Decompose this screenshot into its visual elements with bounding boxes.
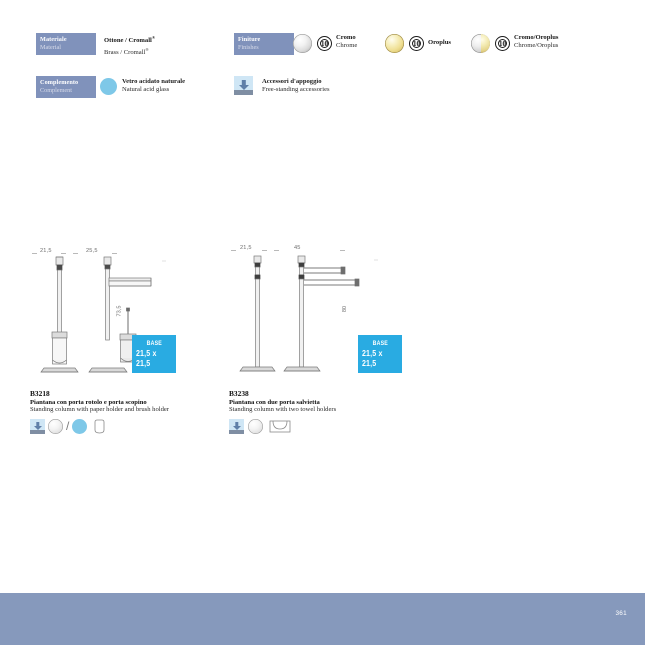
badge-10-duo: 10	[495, 36, 510, 51]
dim-tick	[61, 253, 66, 254]
product-drawing-b3238: 21,5 45	[228, 245, 408, 382]
finish-option-oroplus	[385, 34, 404, 58]
finishes-label-en: Finishes	[238, 44, 294, 52]
legend-complement: Complemento Complement	[36, 76, 96, 98]
dim-tick	[32, 253, 37, 254]
finish-option-chrome	[293, 34, 312, 58]
free-standing-accessory-icon	[234, 76, 253, 95]
free-standing-accessory-icon	[30, 419, 45, 434]
dim-tick	[112, 253, 117, 254]
dim-tick	[274, 250, 279, 251]
material-value-en-text: Brass / Cromall	[104, 49, 145, 56]
free-standing-accessory-icon	[229, 419, 244, 434]
chrome-oroplus-guarantee-badge-icon: 10	[495, 36, 510, 51]
base-chip-title-b3238: BASE	[372, 340, 387, 347]
complement-label-box: Complemento Complement	[36, 76, 96, 98]
finish-oroplus-text: Oroplus	[428, 39, 451, 47]
material-value: Ottone / Cromall® Brass / Cromall®	[104, 34, 155, 57]
product-code-b3238: B3238	[229, 389, 336, 398]
dim-tick	[340, 250, 345, 251]
legend-material: Materiale Material	[36, 33, 96, 55]
footer-band	[0, 593, 645, 645]
finish-option-chrome-oroplus	[471, 34, 490, 58]
dim-height-b3238: 80	[342, 306, 348, 312]
base-chip-title-b3218: BASE	[146, 340, 161, 347]
material-value-en: Brass / Cromall®	[104, 46, 155, 58]
badge-10-oroplus-text: 10	[410, 37, 423, 50]
separator-slash-icon: /	[66, 419, 69, 434]
material-label-it: Materiale	[40, 36, 96, 44]
product-icons-b3238	[229, 419, 291, 434]
product-desc-it-b3238: Piantana con due porta salvietta	[229, 399, 336, 406]
towel-holder-outline-icon	[269, 419, 291, 434]
complement-label-it: Complemento	[40, 79, 96, 87]
base-chip-b3238: BASE 21,5 x 21,5	[358, 335, 402, 373]
product-desc-en-b3238: Standing column with two towel holders	[229, 406, 336, 413]
base-chip-value-b3238: 21,5 x 21,5	[362, 348, 398, 368]
complement-label-en: Complement	[40, 87, 96, 95]
product-desc-it-b3218: Piantana con porta rotolo e porta scopin…	[30, 399, 169, 406]
finish-duo-it: Cromo/Oroplus	[514, 34, 558, 42]
finish-chrome-text: Cromo Chrome	[336, 34, 357, 51]
product-desc-en-b3218: Standing column with paper holder and br…	[30, 406, 169, 413]
accessory-base-bar	[30, 430, 45, 434]
badge-10-oroplus: 10	[409, 36, 424, 51]
chrome-swatch	[293, 34, 312, 53]
product-info-b3218: B3218 Piantana con porta rotolo e porta …	[30, 389, 169, 413]
product-code-b3218: B3218	[30, 389, 169, 398]
badge-10-chrome-text: 10	[318, 37, 331, 50]
legend-finishes: Finiture Finishes	[234, 33, 294, 55]
finish-chrome-oroplus-text: Cromo/Oroplus Chrome/Oroplus	[514, 34, 558, 51]
glass-finish-icon	[72, 419, 87, 434]
brush-holder-outline-icon	[93, 419, 106, 434]
product-info-b3238: B3238 Piantana con due porta salvietta S…	[229, 389, 336, 413]
finishes-label-it: Finiture	[238, 36, 294, 44]
accessory-icon-shape	[234, 76, 253, 95]
accessories-value-en: Free-standing accessories	[262, 86, 330, 94]
dim-tick	[73, 253, 78, 254]
dim-tick	[231, 250, 236, 251]
chrome-gold-swatch	[471, 34, 490, 53]
material-value-it-sup: ®	[152, 35, 155, 40]
chrome-finish-icon	[48, 419, 63, 434]
material-value-it: Ottone / Cromall®	[104, 34, 155, 46]
material-label-en: Material	[40, 44, 96, 52]
finish-duo-en: Chrome/Oroplus	[514, 42, 558, 50]
material-value-it-text: Ottone / Cromall	[104, 37, 152, 44]
gold-swatch	[385, 34, 404, 53]
page-number: 361	[615, 610, 627, 617]
base-chip-value-b3218: 21,5 x 21,5	[136, 348, 172, 368]
product-drawing-b3218: 21,5 25,5	[30, 248, 210, 381]
complement-value-it: Vetro acidato naturale	[122, 78, 185, 86]
finish-chrome-en: Chrome	[336, 42, 357, 50]
catalog-page: Materiale Material Ottone / Cromall® Bra…	[0, 0, 645, 645]
material-label-box: Materiale Material	[36, 33, 96, 55]
dim-tick	[262, 250, 267, 251]
complement-value-en: Natural acid glass	[122, 86, 185, 94]
base-chip-b3218: BASE 21,5 x 21,5	[132, 335, 176, 373]
badge-10-duo-text: 10	[496, 37, 509, 50]
finishes-label-box: Finiture Finishes	[234, 33, 294, 55]
complement-value: Vetro acidato naturale Natural acid glas…	[122, 78, 185, 95]
finish-oroplus-it: Oroplus	[428, 39, 451, 47]
dim-height-b3218: 73,5	[116, 306, 122, 317]
dim-width-right-b3218: 25,5	[86, 248, 98, 254]
accessory-base-bar	[234, 90, 253, 95]
badge-10-chrome: 10	[317, 36, 332, 51]
chrome-finish-icon	[248, 419, 263, 434]
accessory-base-bar	[229, 430, 244, 434]
material-value-en-sup: ®	[145, 47, 148, 52]
glass-swatch	[100, 78, 117, 95]
accessories-value-it: Accessori d'appoggio	[262, 78, 330, 86]
accessories-value: Accessori d'appoggio Free-standing acces…	[262, 78, 330, 95]
dim-width-right-b3238: 45	[294, 245, 301, 251]
dim-width-left-b3238: 21,5	[240, 245, 252, 251]
dim-width-left-b3218: 21,5	[40, 248, 52, 254]
product-icons-b3218: /	[30, 419, 106, 434]
oroplus-guarantee-badge-icon: 10	[409, 36, 424, 51]
finish-chrome-it: Cromo	[336, 34, 357, 42]
chrome-guarantee-badge-icon: 10	[317, 36, 332, 51]
glass-circle-icon	[100, 78, 117, 100]
